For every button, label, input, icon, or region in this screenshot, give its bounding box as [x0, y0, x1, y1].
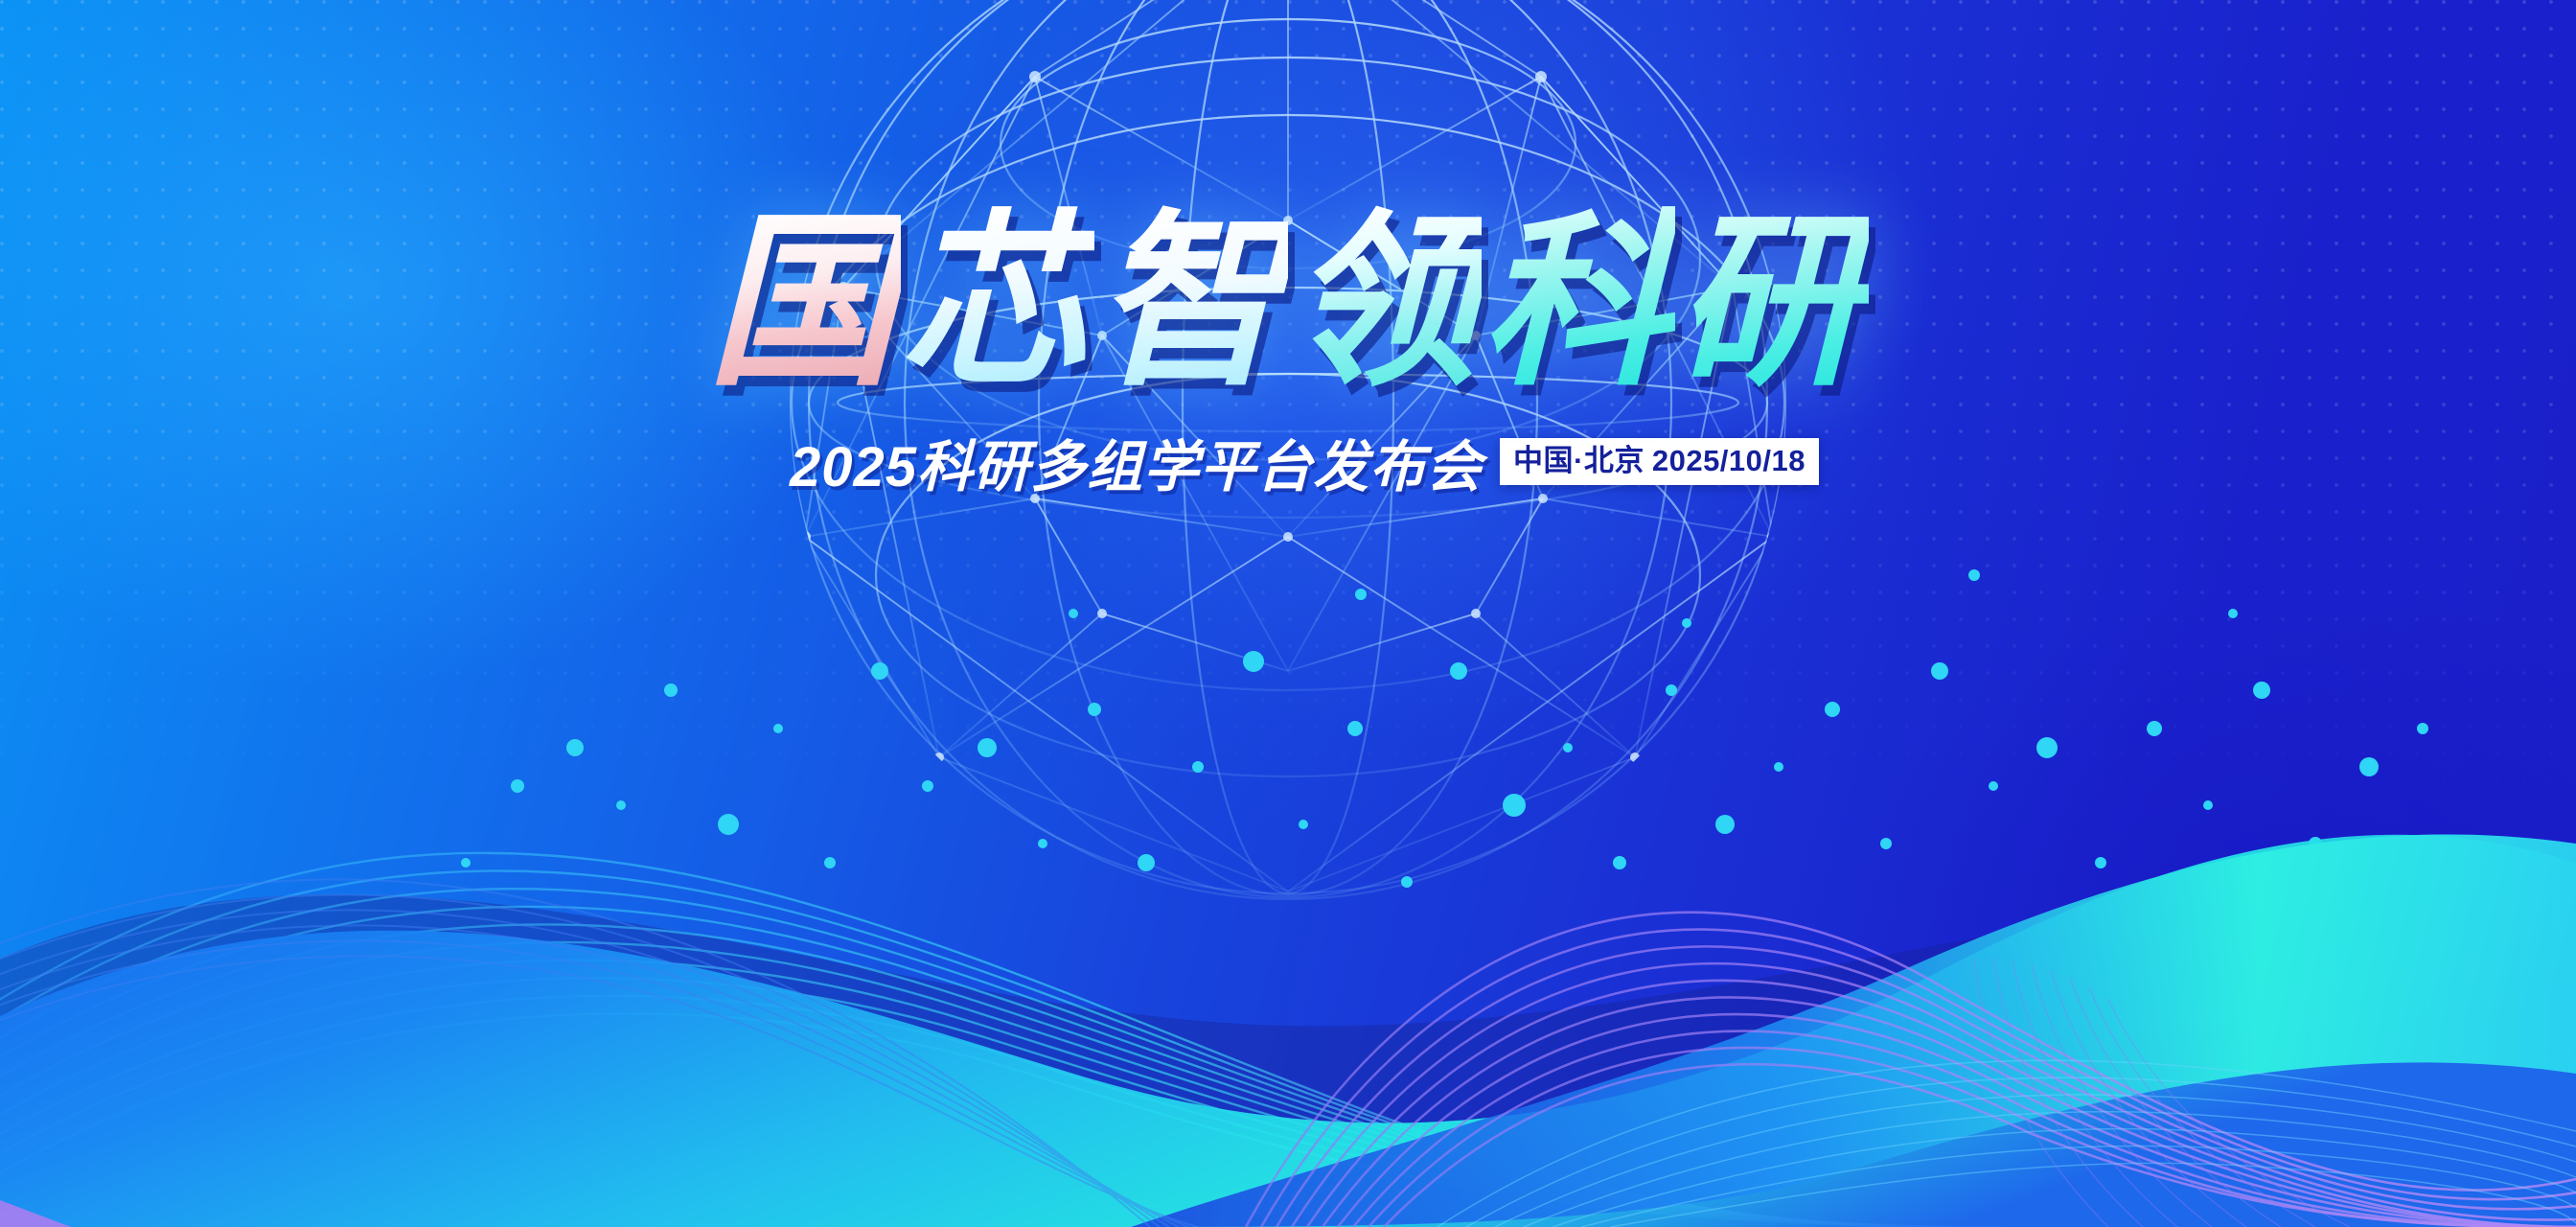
title-char-1: 国 [707, 192, 901, 412]
event-location: 中国·北京 [1513, 444, 1644, 477]
page-title: 国芯智领科研 [0, 205, 2576, 401]
title-char-6: 研 [1675, 192, 1869, 412]
flowing-moire-waves [0, 0, 2576, 1227]
title-char-5: 科 [1482, 192, 1675, 412]
event-date: 2025/10/18 [1644, 444, 1805, 477]
title-block: 国芯智领科研 2025科研多组学平台发布会 中国·北京2025/10/18 [0, 205, 2576, 502]
event-banner: 国芯智领科研 2025科研多组学平台发布会 中国·北京2025/10/18 [0, 0, 2576, 1227]
title-char-3: 智 [1094, 192, 1288, 412]
title-char-2: 芯 [901, 192, 1094, 412]
subtitle-row: 2025科研多组学平台发布会 中国·北京2025/10/18 [0, 422, 2576, 502]
title-char-4: 领 [1288, 192, 1482, 412]
status-badge: 中国·北京2025/10/18 [1500, 438, 1819, 485]
event-subtitle: 2025科研多组学平台发布会 [790, 422, 1483, 502]
